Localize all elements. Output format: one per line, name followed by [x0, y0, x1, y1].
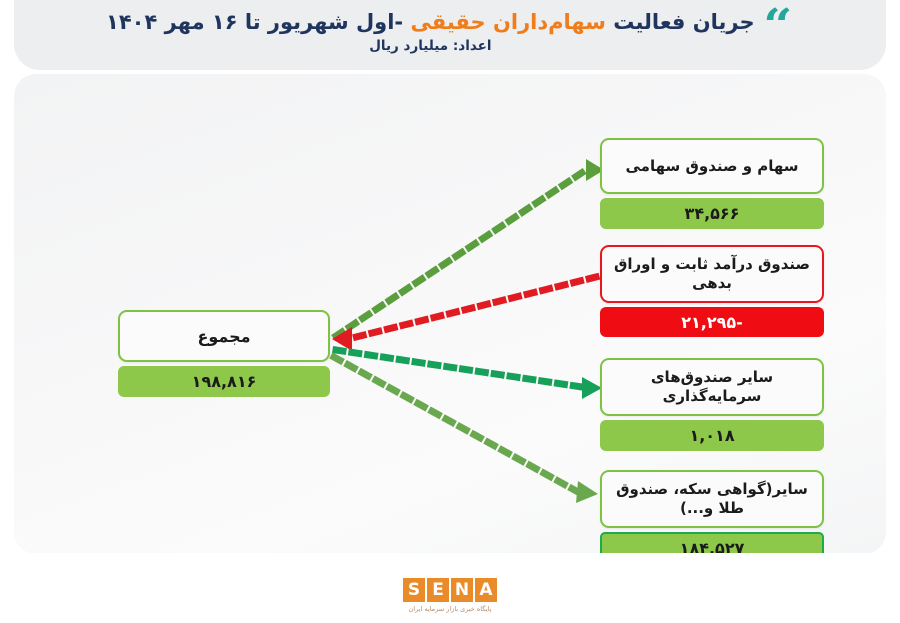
quote-icon: “ — [763, 11, 790, 41]
sena-logo-word: S E N A — [403, 578, 497, 602]
node-fixed-income-value: -۲۱,۲۹۵ — [600, 307, 824, 337]
node-equity-value: ۳۴,۵۶۶ — [600, 198, 824, 229]
infographic-page: “ جریان فعالیت سهام‌داران حقیقی -اول شهر… — [0, 0, 900, 623]
footer-bar: S E N A پایگاه خبری بازار سرمایه ایران — [0, 553, 900, 623]
logo-letter-e: E — [427, 578, 449, 602]
page-title: جریان فعالیت سهام‌داران حقیقی -اول شهریو… — [106, 9, 755, 35]
node-fixed-income-label: صندوق درآمد ثابت و اوراق بدهی — [600, 245, 824, 303]
node-other-certificates[interactable]: سایر(گواهی سکه، صندوق طلا و...) ۱۸۴,۵۲۷ — [600, 470, 824, 564]
node-equity[interactable]: سهام و صندوق سهامی ۳۴,۵۶۶ — [600, 138, 824, 229]
page-subtitle: اعداد: میلیارد ریال — [106, 38, 755, 54]
node-total[interactable]: مجموع ۱۹۸,۸۱۶ — [118, 310, 330, 397]
node-total-label: مجموع — [118, 310, 330, 362]
logo-letter-n: N — [451, 578, 473, 602]
sena-logo: S E N A پایگاه خبری بازار سرمایه ایران — [375, 561, 525, 623]
node-total-value: ۱۹۸,۸۱۶ — [118, 366, 330, 397]
node-other-certificates-label: سایر(گواهی سکه، صندوق طلا و...) — [600, 470, 824, 528]
logo-letter-s: S — [403, 578, 425, 602]
node-other-funds[interactable]: سایر صندوق‌های سرمایه‌گذاری ۱,۰۱۸ — [600, 358, 824, 451]
node-equity-label: سهام و صندوق سهامی — [600, 138, 824, 194]
header-bar: “ جریان فعالیت سهام‌داران حقیقی -اول شهر… — [14, 0, 886, 70]
title-accent: سهام‌داران حقیقی — [410, 10, 605, 34]
title-prefix: جریان فعالیت — [606, 10, 755, 34]
node-fixed-income[interactable]: صندوق درآمد ثابت و اوراق بدهی -۲۱,۲۹۵ — [600, 245, 824, 337]
title-block: جریان فعالیت سهام‌داران حقیقی -اول شهریو… — [106, 9, 755, 54]
logo-letter-a: A — [475, 578, 497, 602]
sena-logo-tagline: پایگاه خبری بازار سرمایه ایران — [409, 605, 492, 613]
node-other-funds-value: ۱,۰۱۸ — [600, 420, 824, 451]
title-suffix: -اول شهریور تا ۱۶ مهر ۱۴۰۴ — [106, 10, 410, 34]
node-other-funds-label: سایر صندوق‌های سرمایه‌گذاری — [600, 358, 824, 416]
